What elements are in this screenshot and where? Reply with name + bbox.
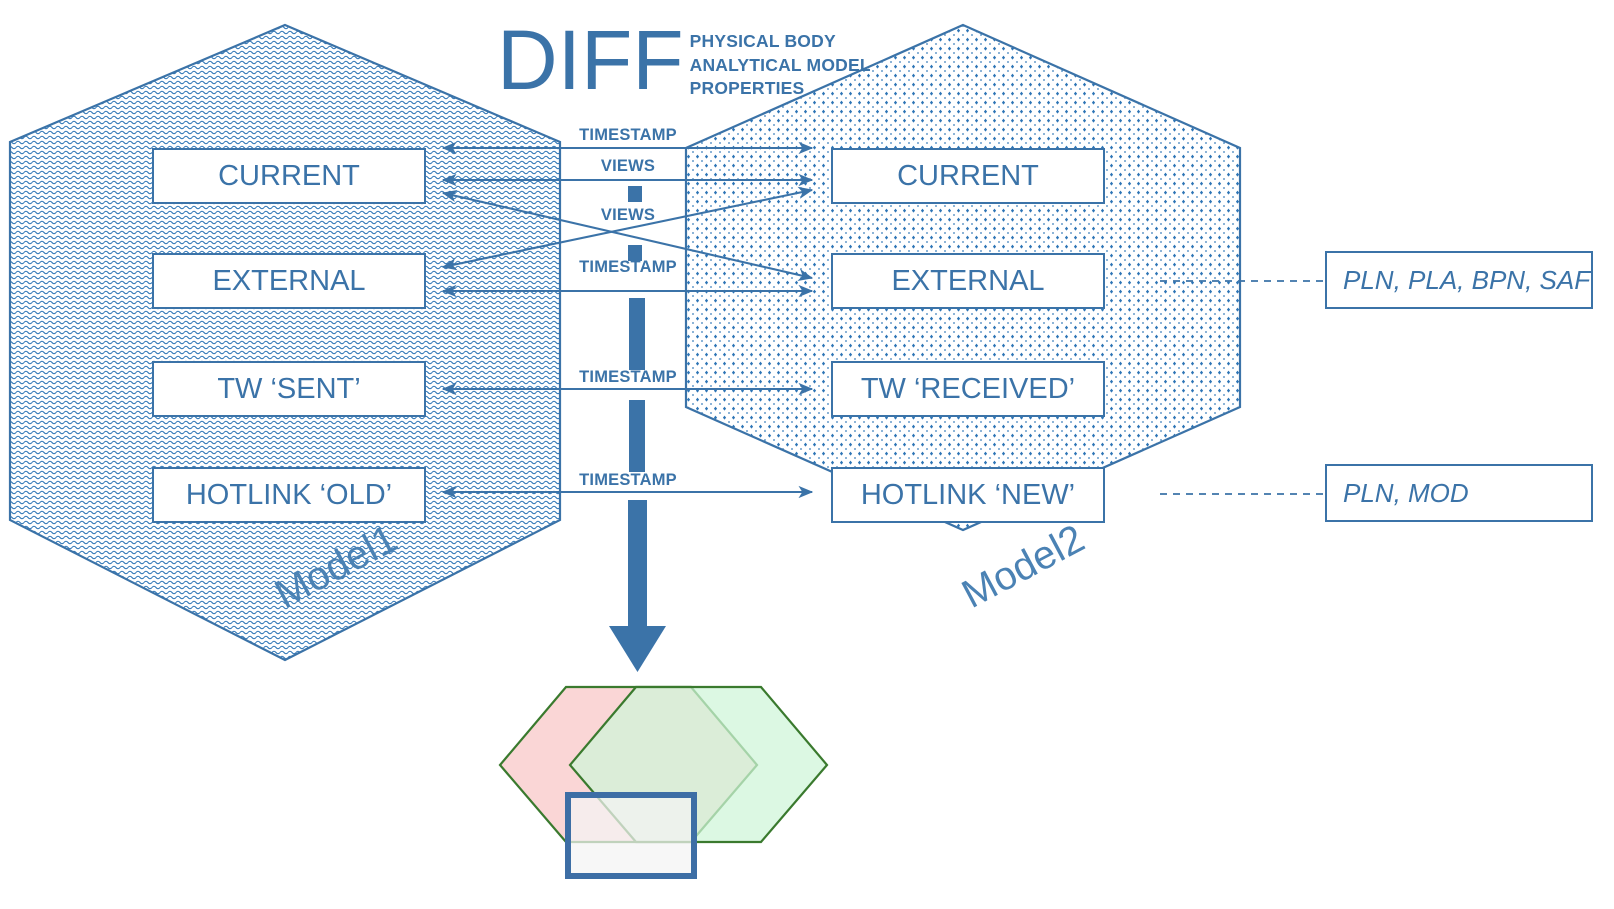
model2-box-external[interactable]: EXTERNAL — [831, 253, 1105, 309]
model2-box-tw-received[interactable]: TW ‘RECEIVED’ — [831, 361, 1105, 417]
model1-box-external[interactable]: EXTERNAL — [152, 253, 426, 309]
diagram-canvas: DIFF PHYSICAL BODY ANALYTICAL MODEL PROP… — [0, 0, 1614, 909]
diagram-vector-layer — [0, 0, 1614, 909]
model2-box-hotlink-new[interactable]: HOTLINK ‘NEW’ — [831, 467, 1105, 523]
model1-box-hotlink-old[interactable]: HOTLINK ‘OLD’ — [152, 467, 426, 523]
connector-label-views-1: VIEWS — [601, 157, 655, 176]
model2-box-current[interactable]: CURRENT — [831, 148, 1105, 204]
connector-label-views-2: VIEWS — [601, 206, 655, 225]
connector-label-timestamp-1: TIMESTAMP — [579, 126, 677, 145]
connector-label-timestamp-3: TIMESTAMP — [579, 368, 677, 387]
model1-box-current[interactable]: CURRENT — [152, 148, 426, 204]
connector-label-timestamp-4: TIMESTAMP — [579, 471, 677, 490]
diff-result-venn — [500, 687, 827, 876]
connector-label-timestamp-2: TIMESTAMP — [579, 258, 677, 277]
model1-hexagon — [10, 25, 560, 660]
note-box-external-properties[interactable]: PLN, PLA, BPN, SAF — [1325, 251, 1593, 309]
diff-result-overlap-rectangle — [568, 795, 694, 876]
note-box-hotlink-properties[interactable]: PLN, MOD — [1325, 464, 1593, 522]
model1-box-tw-sent[interactable]: TW ‘SENT’ — [152, 361, 426, 417]
